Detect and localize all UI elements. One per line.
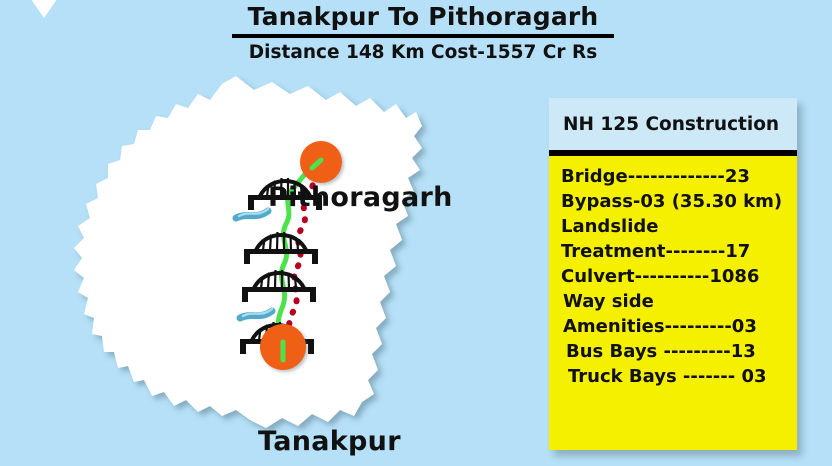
list-item: Bus Bays ---------13 <box>549 339 797 364</box>
list-item: Landslide <box>549 214 797 239</box>
list-item: Truck Bays ------- 03 <box>549 364 797 389</box>
title-divider <box>232 34 614 38</box>
corner-triangle-decoration <box>22 0 66 18</box>
page-subtitle: Distance 148 Km Cost-1557 Cr Rs <box>232 41 614 64</box>
panel-heading: NH 125 Construction <box>563 114 779 135</box>
list-item: Way side <box>549 289 797 314</box>
panel-body: Bridge-------------23 Bypass-03 (35.30 k… <box>549 156 797 450</box>
list-item: Bypass-03 (35.30 km) <box>549 189 797 214</box>
map-area: Pithoragarh Tanakpur <box>40 70 510 466</box>
list-item: Treatment--------17 <box>549 239 797 264</box>
list-item: Bridge-------------23 <box>549 164 797 189</box>
list-item: Culvert----------1086 <box>549 264 797 289</box>
infographic-canvas: Tanakpur To Pithoragarh Distance 148 Km … <box>0 0 832 466</box>
header: Tanakpur To Pithoragarh Distance 148 Km … <box>232 2 614 64</box>
nh125-info-panel: NH 125 Construction Bridge-------------2… <box>549 98 797 450</box>
list-item: Amenities---------03 <box>549 314 797 339</box>
panel-header: NH 125 Construction <box>549 98 797 150</box>
city-label-tanakpur: Tanakpur <box>258 426 401 457</box>
city-label-pithoragarh: Pithoragarh <box>268 182 453 213</box>
page-title: Tanakpur To Pithoragarh <box>232 2 614 32</box>
